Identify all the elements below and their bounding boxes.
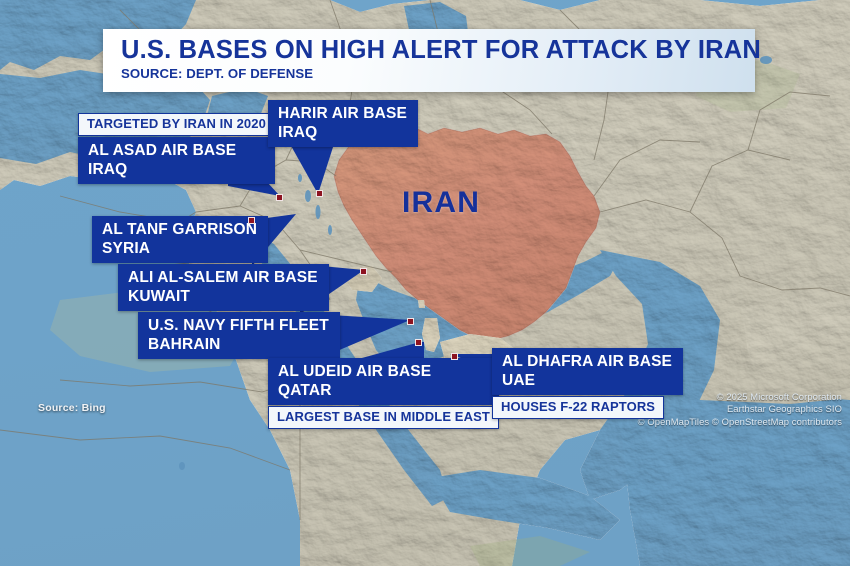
marker-ali-al-salem[interactable]: [360, 268, 367, 275]
callout-al-dhafra-name: AL DHAFRA AIR BASE: [502, 352, 672, 371]
callout-ali-al-salem[interactable]: ALI AL-SALEM AIR BASE KUWAIT: [118, 264, 329, 311]
title-banner: U.S. BASES ON HIGH ALERT FOR ATTACK BY I…: [103, 29, 755, 92]
callout-al-udeid[interactable]: AL UDEID AIR BASE QATAR LARGEST BASE IN …: [268, 358, 499, 429]
callout-al-asad-note: TARGETED BY IRAN IN 2020: [78, 113, 275, 136]
callout-harir[interactable]: HARIR AIR BASE IRAQ: [268, 100, 418, 147]
callout-al-dhafra-sub: HOUSES F-22 RAPTORS: [492, 396, 664, 419]
callout-fifth-fleet[interactable]: U.S. NAVY FIFTH FLEET BAHRAIN: [138, 312, 340, 359]
marker-al-dhafra[interactable]: [451, 353, 458, 360]
marker-al-udeid[interactable]: [415, 339, 422, 346]
page-title: U.S. BASES ON HIGH ALERT FOR ATTACK BY I…: [121, 35, 755, 65]
callout-ali-al-salem-name: ALI AL-SALEM AIR BASE: [128, 268, 318, 287]
callout-al-tanf[interactable]: AL TANF GARRISON SYRIA: [92, 216, 268, 263]
marker-al-tanf[interactable]: [248, 217, 255, 224]
marker-harir[interactable]: [316, 190, 323, 197]
callout-fifth-fleet-name: U.S. NAVY FIFTH FLEET: [148, 316, 329, 335]
callout-al-tanf-box: AL TANF GARRISON SYRIA: [92, 216, 268, 263]
callout-harir-country: IRAQ: [278, 123, 407, 142]
callout-al-udeid-country: QATAR: [278, 381, 488, 400]
callout-al-udeid-box: AL UDEID AIR BASE QATAR: [268, 358, 499, 405]
callout-fifth-fleet-box: U.S. NAVY FIFTH FLEET BAHRAIN: [138, 312, 340, 359]
callout-al-asad-box: AL ASAD AIR BASE IRAQ: [78, 137, 275, 184]
marker-al-asad[interactable]: [276, 194, 283, 201]
callout-al-dhafra-country: UAE: [502, 371, 672, 390]
callout-al-dhafra[interactable]: AL DHAFRA AIR BASE UAE HOUSES F-22 RAPTO…: [492, 348, 683, 419]
callout-al-asad-name: AL ASAD AIR BASE: [88, 141, 264, 160]
banner-source: SOURCE: DEPT. OF DEFENSE: [121, 66, 755, 82]
callout-al-tanf-name: AL TANF GARRISON: [102, 220, 257, 239]
callout-al-tanf-country: SYRIA: [102, 239, 257, 258]
callout-al-asad-country: IRAQ: [88, 160, 264, 179]
callout-al-asad[interactable]: TARGETED BY IRAN IN 2020 AL ASAD AIR BAS…: [78, 113, 275, 184]
map-provider-credit: Source: Bing: [38, 402, 106, 414]
callout-harir-name: HARIR AIR BASE: [278, 104, 407, 123]
callout-harir-box: HARIR AIR BASE IRAQ: [268, 100, 418, 147]
callout-fifth-fleet-country: BAHRAIN: [148, 335, 329, 354]
callout-ali-al-salem-country: KUWAIT: [128, 287, 318, 306]
map-graphic: U.S. BASES ON HIGH ALERT FOR ATTACK BY I…: [0, 0, 850, 566]
callout-al-udeid-name: AL UDEID AIR BASE: [278, 362, 488, 381]
callout-ali-al-salem-box: ALI AL-SALEM AIR BASE KUWAIT: [118, 264, 329, 311]
callout-al-udeid-sub: LARGEST BASE IN MIDDLE EAST: [268, 406, 499, 429]
marker-fifth-fleet[interactable]: [407, 318, 414, 325]
callout-al-dhafra-box: AL DHAFRA AIR BASE UAE: [492, 348, 683, 395]
